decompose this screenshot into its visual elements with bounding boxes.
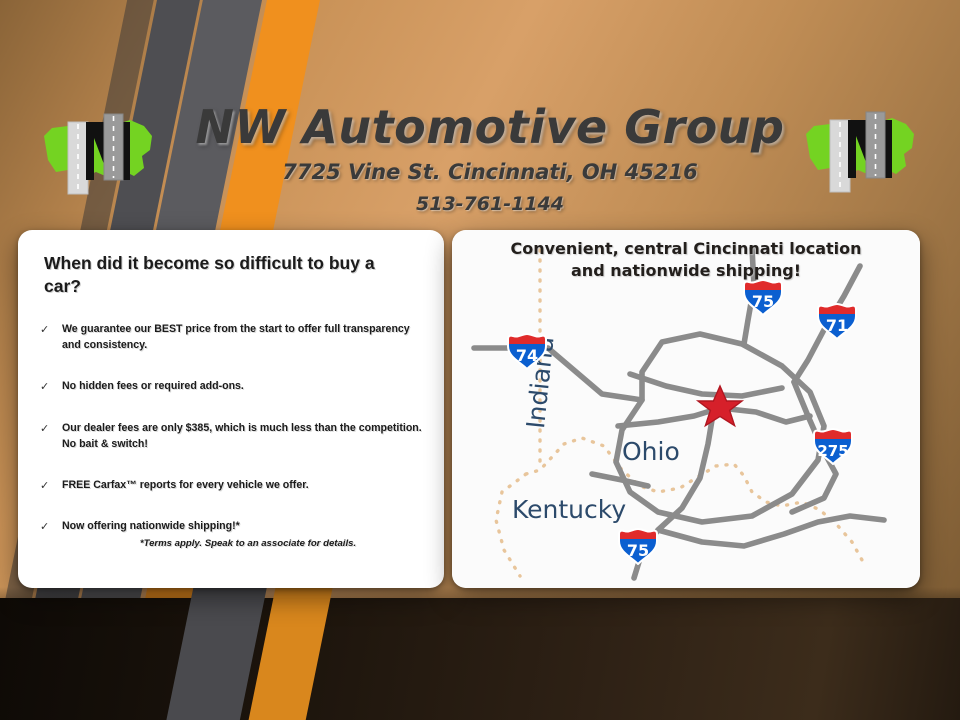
list-item-text: FREE Carfax™ reports for every vehicle w… bbox=[62, 478, 309, 495]
title-block: NW Automotive Group 7725 Vine St. Cincin… bbox=[190, 104, 790, 215]
shield-number: 71 bbox=[826, 316, 848, 335]
nw-automotive-logo-left bbox=[38, 106, 160, 198]
list-item: ✓ Now offering nationwide shipping!* bbox=[40, 519, 426, 536]
list-item: ✓ No hidden fees or required add-ons. bbox=[40, 379, 426, 396]
state-label-ohio: Ohio bbox=[622, 437, 680, 466]
interstate-shield-75-north-icon: 75 bbox=[742, 276, 784, 316]
list-item-text: Now offering nationwide shipping!* bbox=[62, 519, 240, 536]
list-item: ✓ We guarantee our BEST price from the s… bbox=[40, 322, 426, 354]
shield-number: 275 bbox=[817, 442, 848, 460]
list-item: ✓ FREE Carfax™ reports for every vehicle… bbox=[40, 478, 426, 495]
check-icon: ✓ bbox=[40, 478, 62, 495]
list-item-text: We guarantee our BEST price from the sta… bbox=[62, 322, 426, 354]
list-item-text: No hidden fees or required add-ons. bbox=[62, 379, 244, 396]
shield-number: 75 bbox=[627, 541, 649, 560]
check-icon: ✓ bbox=[40, 519, 62, 536]
interstate-shield-71-icon: 71 bbox=[816, 300, 858, 340]
state-label-kentucky: Kentucky bbox=[512, 495, 626, 524]
background-gradient-bottom bbox=[0, 598, 960, 720]
benefits-list: ✓ We guarantee our BEST price from the s… bbox=[40, 322, 426, 561]
check-icon: ✓ bbox=[40, 421, 62, 453]
header: NW Automotive Group 7725 Vine St. Cincin… bbox=[0, 0, 960, 228]
shield-number: 75 bbox=[752, 292, 774, 311]
list-item-text: Our dealer fees are only $385, which is … bbox=[62, 421, 426, 453]
terms-footnote: *Terms apply. Speak to an associate for … bbox=[18, 538, 444, 549]
brand-name: NW Automotive Group bbox=[190, 104, 790, 150]
slide-canvas: NW Automotive Group 7725 Vine St. Cincin… bbox=[0, 0, 960, 720]
interstate-shield-74-icon: 74 bbox=[506, 330, 548, 370]
check-icon: ✓ bbox=[40, 322, 62, 354]
check-icon: ✓ bbox=[40, 379, 62, 396]
interstate-shield-75-south-icon: 75 bbox=[617, 525, 659, 565]
list-item: ✓ Our dealer fees are only $385, which i… bbox=[40, 421, 426, 453]
panel-heading: When did it become so difficult to buy a… bbox=[44, 252, 406, 298]
interstate-shield-275-icon: 275 bbox=[812, 425, 854, 465]
phone-number[interactable]: 513-761-1144 bbox=[190, 193, 790, 215]
nw-automotive-logo-right bbox=[800, 104, 922, 196]
address-line: 7725 Vine St. Cincinnati, OH 45216 bbox=[190, 160, 790, 184]
shield-number: 74 bbox=[516, 346, 538, 365]
benefits-panel: When did it become so difficult to buy a… bbox=[18, 230, 444, 588]
